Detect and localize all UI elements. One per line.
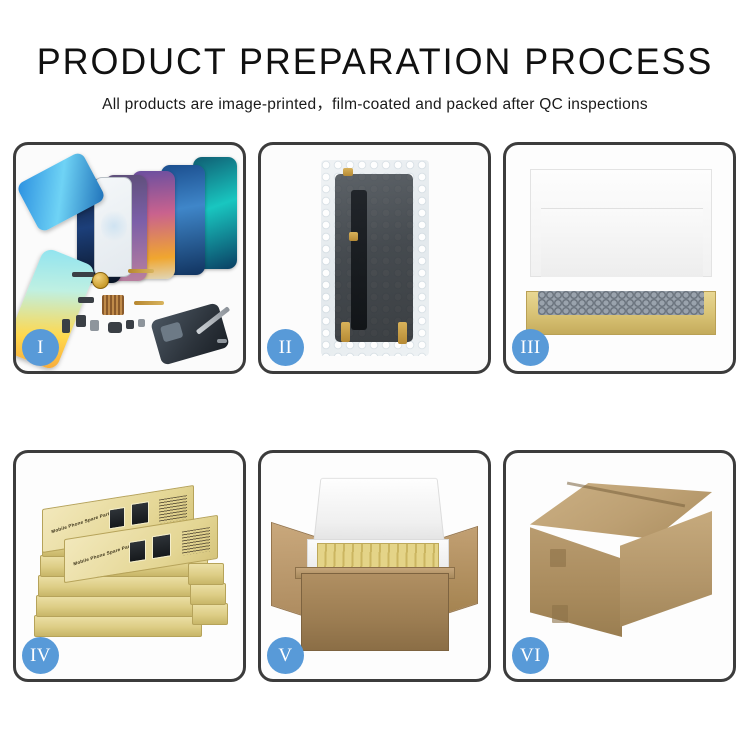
header: PRODUCT PREPARATION PROCESS All products… [0,0,750,114]
poster-page: PRODUCT PREPARATION PROCESS All products… [0,0,750,750]
part-sim-tray [126,320,134,329]
step-badge-1: I [22,329,59,366]
carton-body [301,573,449,651]
part-battery [62,319,70,333]
part-flex-cable-1 [128,269,154,273]
step-badge-2: II [267,329,304,366]
stack-box-right-3 [190,583,226,605]
tape-tab-mid [349,232,358,241]
stack-box-4 [36,595,204,617]
process-step-2[interactable]: II [258,142,491,374]
process-step-3[interactable]: III [503,142,736,374]
box-stack: Mobile Phone Spare Parts Mobile Phone Sp… [30,479,230,657]
box-spec-lines-front [182,527,210,555]
page-title: PRODUCT PREPARATION PROCESS [11,42,739,82]
part-camera [76,315,86,327]
foam-lid [313,478,445,544]
carton-handle-tab-upper [550,549,566,567]
vibration-motor [92,272,109,289]
step-badge-3: III [512,329,549,366]
box-window-rear-1 [109,507,125,530]
box-label-front: Mobile Phone Spare Parts [73,542,135,566]
part-connector [78,297,94,303]
process-step-6[interactable]: VI [503,450,736,682]
stack-box-right-4 [192,603,228,625]
box-window-rear-2 [131,501,149,526]
process-grid: I II III [13,142,737,682]
step-badge-6: VI [512,637,549,674]
box-window-front-2 [152,533,171,559]
process-step-1[interactable]: I [13,142,246,374]
part-bracket [90,320,99,331]
page-subtitle: All products are image-printed，film-coat… [0,92,750,114]
step-badge-4: IV [22,637,59,674]
sealed-carton-left-face [530,525,622,637]
stack-box-right-2 [188,563,224,585]
part-screw-set [138,319,145,327]
carton-handle-tab-lower [552,605,568,623]
tape-tab-bottom-right [398,322,407,344]
stack-box-5 [34,615,202,637]
process-step-5[interactable]: V [258,450,491,682]
part-screws [217,339,227,343]
part-flex-cable-2 [134,301,164,305]
wrapped-flex-strip [351,190,367,330]
tape-tab-top [343,168,353,176]
process-step-4[interactable]: Mobile Phone Spare Parts Mobile Phone Sp… [13,450,246,682]
part-speaker [72,272,94,277]
box-window-front-1 [129,539,146,563]
wrapped-screen [335,174,413,342]
inner-box-bubble-fill [538,291,704,315]
chip-grid [102,295,124,315]
tape-tab-bottom-left [341,322,350,342]
inner-box-lid [530,169,712,277]
bubble-wrap-bag [321,160,429,356]
part-taptic [108,322,122,333]
box-label-rear: Mobile Phone Spare Parts [51,510,113,534]
step-badge-5: V [267,637,304,674]
